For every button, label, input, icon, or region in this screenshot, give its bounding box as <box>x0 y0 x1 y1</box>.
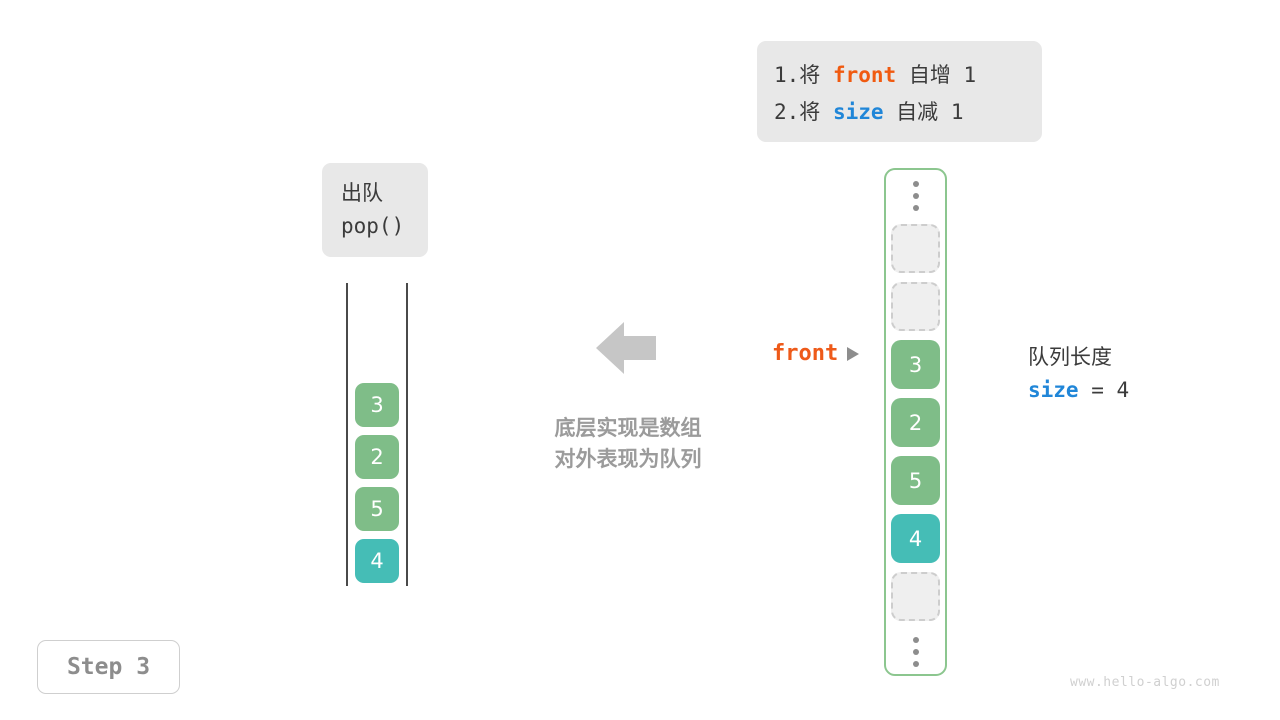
ellipsis-dot <box>913 181 919 187</box>
array-slot-empty <box>891 572 940 621</box>
pop-title-cn: 出队 <box>341 177 428 210</box>
ellipsis-dot <box>913 193 919 199</box>
instruction-2-prefix: 将 <box>799 100 833 124</box>
flow-arrow-icon <box>596 322 656 374</box>
array-ellipsis-icon <box>891 174 940 218</box>
abstract-queue-cell: 5 <box>355 487 399 531</box>
array-ellipsis-icon <box>891 630 940 674</box>
array-slot: 4 <box>891 514 940 563</box>
abstract-queue-cells: 3254 <box>355 383 399 583</box>
watermark: www.hello-algo.com <box>1070 675 1220 690</box>
array-slot-empty <box>891 282 940 331</box>
array-slot: 5 <box>891 456 940 505</box>
array-slot: 3 <box>891 340 940 389</box>
ellipsis-dot <box>913 661 919 667</box>
instruction-1-index: 1. <box>774 63 799 87</box>
front-pointer-label: front <box>772 341 838 366</box>
abstract-queue: 3254 <box>340 283 412 586</box>
step-badge: Step 3 <box>37 640 180 694</box>
size-value: = 4 <box>1079 378 1130 402</box>
instruction-1-suffix: 自增 1 <box>896 63 976 87</box>
center-caption-line-1: 底层实现是数组 <box>528 413 728 444</box>
step-badge-label: Step 3 <box>67 654 150 680</box>
ellipsis-dot <box>913 205 919 211</box>
instruction-line-2: 2.将 size 自减 1 <box>774 94 1042 131</box>
queue-rail-left <box>346 283 348 586</box>
instruction-1-prefix: 将 <box>799 63 833 87</box>
center-caption-line-2: 对外表现为队列 <box>528 444 728 475</box>
abstract-queue-cell: 4 <box>355 539 399 583</box>
size-annotation: 队列长度 size = 4 <box>1028 341 1129 407</box>
abstract-queue-cell: 3 <box>355 383 399 427</box>
ellipsis-dot <box>913 637 919 643</box>
center-caption: 底层实现是数组 对外表现为队列 <box>528 413 728 475</box>
instruction-line-1: 1.将 front 自增 1 <box>774 57 1042 94</box>
pop-operation-box: 出队 pop() <box>322 163 428 257</box>
array-slot-empty <box>891 224 940 273</box>
front-pointer-triangle-icon <box>847 347 859 361</box>
instruction-2-keyword-size: size <box>833 100 884 124</box>
array-slot: 2 <box>891 398 940 447</box>
size-annotation-expression: size = 4 <box>1028 373 1129 407</box>
size-keyword: size <box>1028 378 1079 402</box>
abstract-queue-cell: 2 <box>355 435 399 479</box>
instruction-panel: 1.将 front 自增 1 2.将 size 自减 1 <box>757 41 1042 142</box>
ellipsis-dot <box>913 649 919 655</box>
size-annotation-title: 队列长度 <box>1028 341 1129 373</box>
instruction-2-suffix: 自减 1 <box>884 100 964 124</box>
instruction-2-index: 2. <box>774 100 799 124</box>
pop-title-code: pop() <box>341 210 428 243</box>
queue-rail-right <box>406 283 408 586</box>
instruction-1-keyword-front: front <box>833 63 896 87</box>
front-pointer: front <box>772 341 859 366</box>
array-slots: 3254 <box>891 174 940 680</box>
